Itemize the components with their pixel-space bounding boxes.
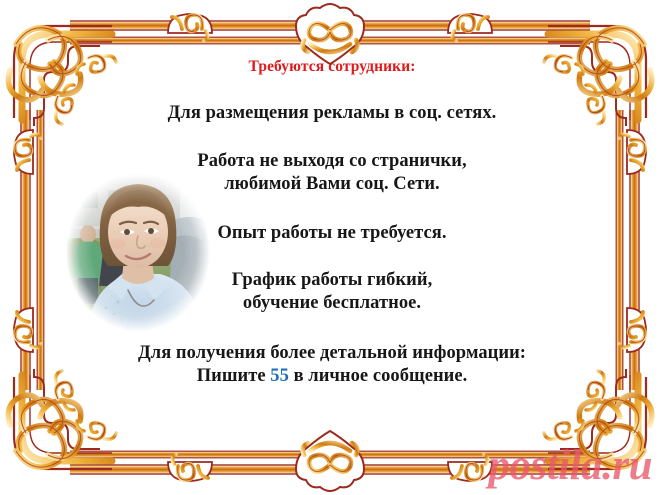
contact-number: 55 bbox=[270, 366, 289, 386]
body-line-5a: Для получения более детальной информации… bbox=[58, 342, 606, 365]
body-line-2b: любимой Вами соц. Сети. bbox=[58, 173, 606, 196]
body-line-2a: Работа не выходя со странички, bbox=[58, 150, 606, 173]
body-line-5b: Пишите 55 в личное сообщение. bbox=[58, 365, 606, 388]
contact-suffix: в личное сообщение. bbox=[289, 366, 467, 386]
scroll-flourish-right-upper-icon bbox=[619, 130, 646, 174]
rail-flourish-bottom-right-icon bbox=[448, 454, 492, 481]
pendant-bottom-center-icon bbox=[296, 431, 364, 491]
poster-canvas: Требуются сотрудники: Для размещения рек… bbox=[0, 0, 660, 495]
body-line-3: Опыт работы не требуется. bbox=[58, 222, 606, 245]
rail-flourish-bottom-left-icon bbox=[168, 454, 212, 481]
frame-rail-right bbox=[616, 110, 640, 390]
watermark-postila: postila.ru bbox=[489, 444, 652, 487]
scroll-flourish-left-lower-icon bbox=[14, 308, 41, 352]
body-line-2: Работа не выходя со странички, любимой В… bbox=[58, 150, 606, 195]
frame-rail-top bbox=[70, 20, 590, 44]
body-line-5: Для получения более детальной информации… bbox=[58, 342, 606, 387]
rail-flourish-top-right-icon bbox=[448, 14, 492, 41]
body-line-4a: График работы гибкий, bbox=[58, 269, 606, 292]
scroll-flourish-right-lower-icon bbox=[619, 308, 646, 352]
scroll-flourish-left-upper-icon bbox=[14, 130, 41, 174]
rail-flourish-top-left-icon bbox=[168, 14, 212, 41]
page-title: Требуются сотрудники: bbox=[58, 58, 606, 76]
contact-prefix: Пишите bbox=[197, 366, 271, 386]
poster-text-block: Требуются сотрудники: Для размещения рек… bbox=[58, 46, 606, 406]
body-line-4: График работы гибкий, обучение бесплатно… bbox=[58, 269, 606, 314]
body-line-4b: обучение бесплатное. bbox=[58, 292, 606, 315]
frame-rail-left bbox=[20, 110, 44, 390]
body-line-1: Для размещения рекламы в соц. сетях. bbox=[58, 102, 606, 125]
